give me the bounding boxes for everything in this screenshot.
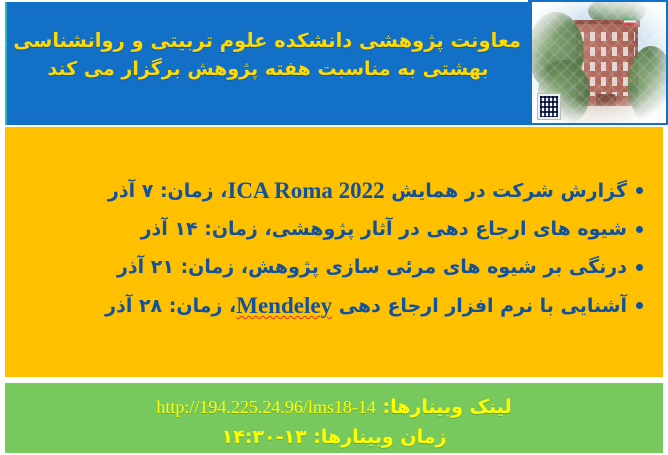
header-title-line-2: بهشتی به مناسبت هفته پژوهش برگزار می کند — [15, 55, 521, 84]
bullet-dot-icon — [636, 302, 643, 309]
header-banner: معاونت پژوهشی دانشکده علوم تربیتی و روان… — [5, 2, 535, 125]
webinar-list: گزارش شرکت در همایش ICA Roma 2022، زمان:… — [5, 175, 663, 329]
qr-code-pattern — [540, 96, 558, 117]
tree-icon — [628, 46, 666, 123]
list-item: درنگی بر شیوه های مرئی سازی پژوهش، زمان:… — [5, 252, 663, 283]
bullet-text-before: گزارش شرکت در همایش — [385, 180, 627, 202]
body-panel: گزارش شرکت در همایش ICA Roma 2022، زمان:… — [5, 127, 663, 377]
list-item: آشنایی با نرم افزار ارجاع دهی Mendeley، … — [5, 290, 663, 322]
webinar-time-row: زمان وبینارها: ۱۳-۱۴:۳۰ — [5, 422, 663, 452]
faculty-building-photo — [528, 0, 668, 125]
bullet-text-before: درنگی بر شیوه های مرئی سازی پژوهش، زمان:… — [117, 256, 627, 278]
iran-flag-icon — [624, 18, 636, 25]
bullet-dot-icon — [636, 226, 643, 233]
webinar-link-label: لینک وبینارها: — [382, 396, 511, 418]
bullet-dot-icon — [636, 187, 643, 194]
webinar-link-url[interactable]: http://194.225.24.96/lms18-14 — [156, 392, 376, 422]
header-title-line-1: معاونت پژوهشی دانشکده علوم تربیتی و روان… — [15, 26, 521, 55]
webinar-announcement-poster: معاونت پژوهشی دانشکده علوم تربیتی و روان… — [0, 0, 668, 455]
qr-code-icon — [537, 93, 561, 120]
list-item: شیوه های ارجاع دهی در آثار پژوهشی، زمان:… — [5, 214, 663, 245]
bullet-dot-icon — [636, 264, 643, 271]
bullet-text-after: ، زمان: ۲۸ آذر — [105, 295, 236, 317]
bullet-text-after: ، زمان: ۷ آذر — [108, 180, 228, 202]
photo-image — [532, 2, 666, 123]
bullet-latin-title: ICA Roma 2022 — [227, 175, 384, 206]
webinar-time-text: زمان وبینارها: ۱۳-۱۴:۳۰ — [222, 426, 447, 448]
bullet-text-before: شیوه های ارجاع دهی در آثار پژوهشی، زمان:… — [141, 218, 627, 240]
bullet-text-before: آشنایی با نرم افزار ارجاع دهی — [332, 295, 627, 317]
footer-panel: لینک وبینارها: http://194.225.24.96/lms1… — [5, 383, 663, 453]
list-item: گزارش شرکت در همایش ICA Roma 2022، زمان:… — [5, 175, 663, 207]
webinar-link-row: لینک وبینارها: http://194.225.24.96/lms1… — [5, 383, 663, 422]
bullet-latin-title: Mendeley — [236, 290, 332, 321]
header-text-block: معاونت پژوهشی دانشکده علوم تربیتی و روان… — [5, 26, 535, 84]
